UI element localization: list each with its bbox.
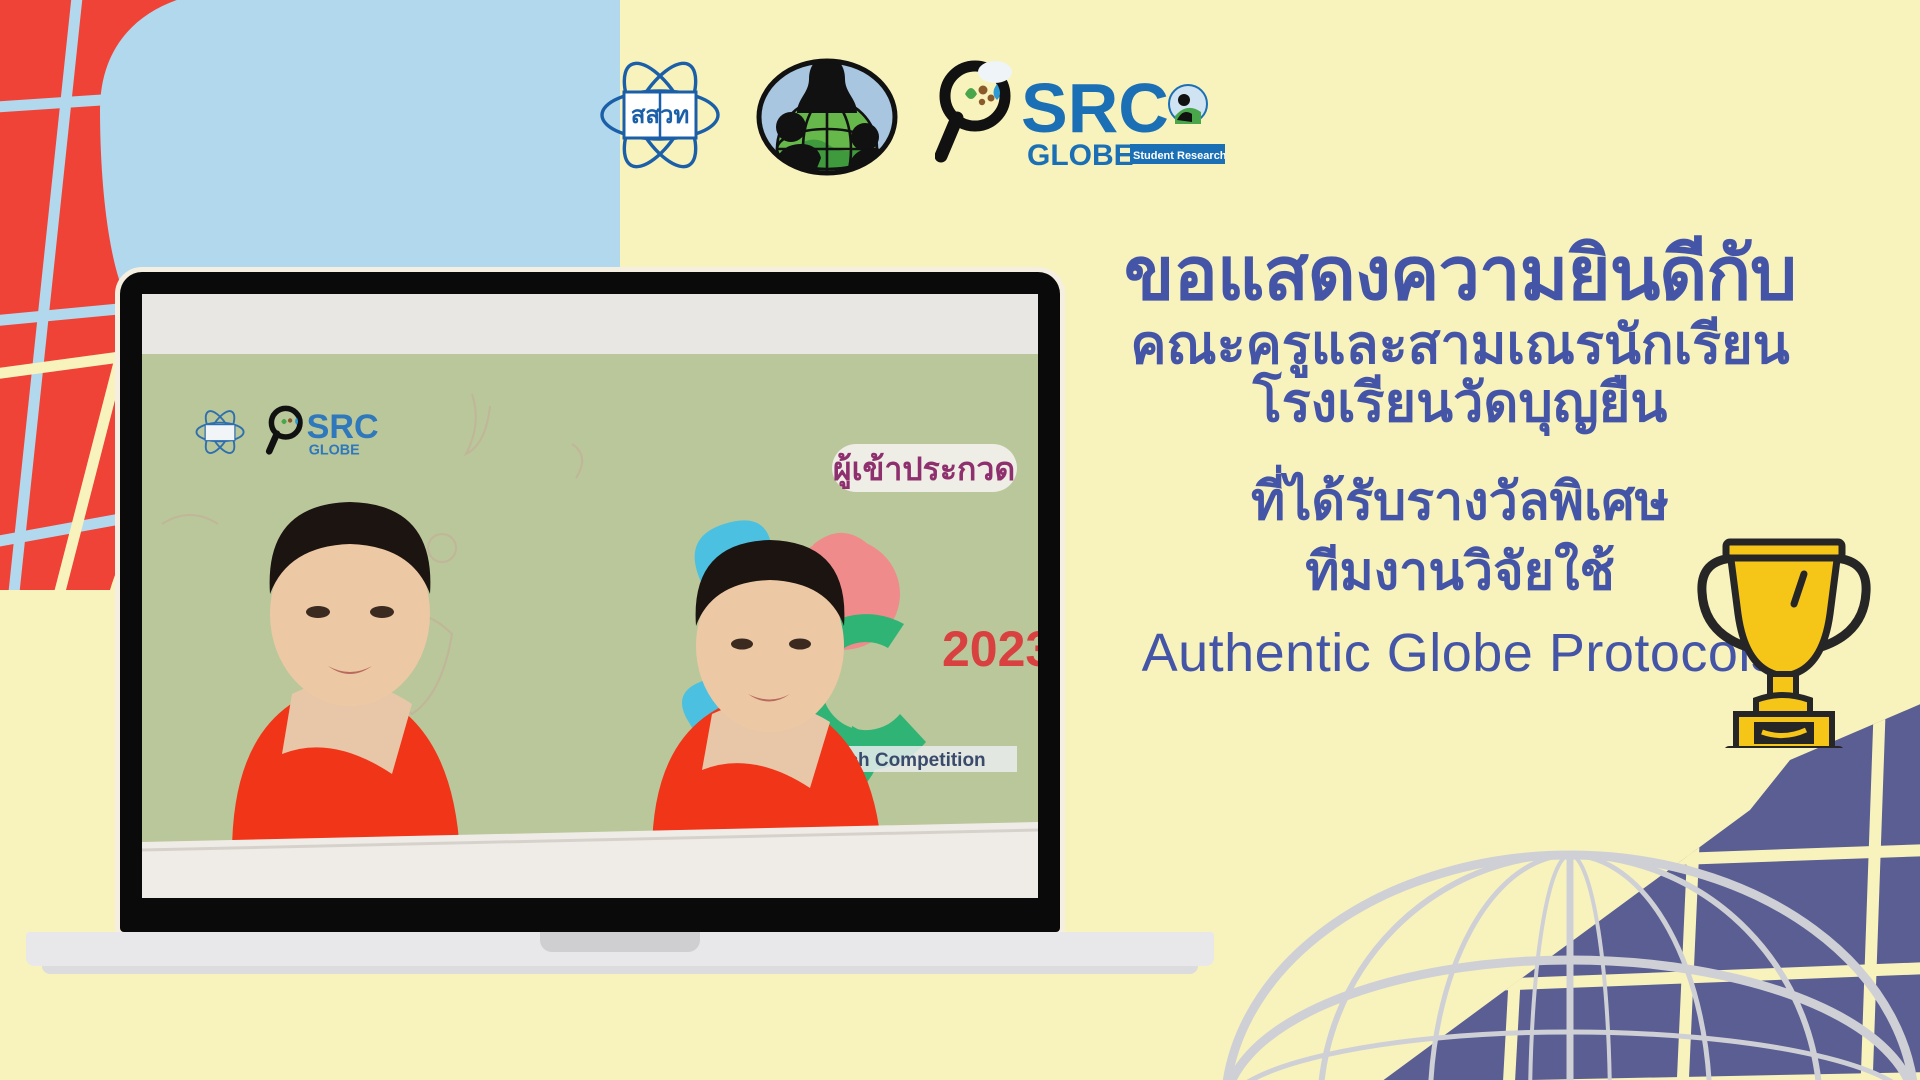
ipst-acronym: สสวท [631, 102, 690, 129]
laptop-screen: SRC GLOBE 2023 GL rch Competition [142, 294, 1038, 898]
src-globe-logo: SRC GLOBE Student Research Competition [935, 60, 1225, 170]
globe-wireframe-decoration [1210, 840, 1920, 1080]
svg-text:GLOBE: GLOBE [309, 443, 360, 459]
trophy-icon [1688, 528, 1880, 753]
globe-program-logo [751, 53, 903, 178]
laptop-base [26, 932, 1214, 966]
globe-people-icon [751, 53, 903, 178]
ipst-logo: สสวท [595, 50, 725, 180]
src-globe-subtitle: GLOBE [1027, 139, 1134, 170]
src-wordmark-icon: SRC GLOBE Student Research Competition [935, 60, 1225, 170]
svg-text:SRC: SRC [307, 408, 379, 446]
src-globe-subtitle-small: Student Research Competition [1133, 150, 1225, 162]
screen-photo: SRC GLOBE 2023 GL rch Competition [142, 294, 1038, 898]
backdrop-year: 2023 [942, 621, 1038, 677]
message-line-2: คณะครูและสามเณรนักเรียน [1060, 317, 1860, 373]
src-wordmark: SRC [1021, 69, 1169, 147]
laptop-lid: SRC GLOBE 2023 GL rch Competition [120, 272, 1060, 932]
svg-text:ผู้เข้าประกวด: ผู้เข้าประกวด [833, 451, 1015, 490]
message-line-3: โรงเรียนวัดบุญยืน [1060, 375, 1860, 431]
message-line-4: ที่ได้รับรางวัลพิเศษ [1060, 475, 1860, 529]
atom-book-icon: สสวท [595, 50, 725, 180]
backdrop-participant-label: ผู้เข้าประกวด [832, 444, 1017, 492]
laptop-mockup: SRC GLOBE 2023 GL rch Competition [120, 272, 1060, 932]
laptop-base-notch [540, 932, 700, 952]
logo-strip: สสวท [595, 50, 1225, 180]
message-line-1: ขอแสดงความยินดีกับ [1060, 236, 1860, 313]
svg-text:rch Competition: rch Competition [840, 750, 986, 771]
trophy-glyph [1688, 528, 1880, 748]
